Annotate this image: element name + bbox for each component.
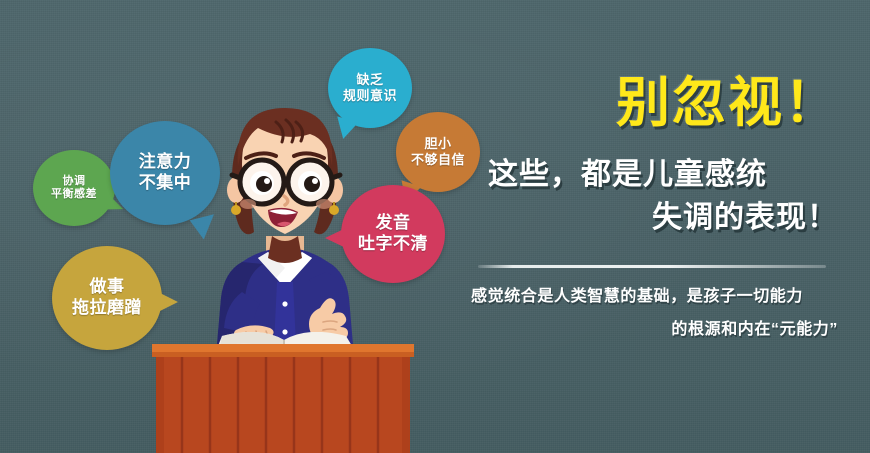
bubble-line-1: 缺乏 bbox=[356, 72, 383, 88]
bubble-tail bbox=[154, 290, 178, 314]
headline-block: 别忽视！ 这些，都是儿童感统 失调的表现！ 感觉统合是人类智慧的基础，是孩子一切… bbox=[452, 76, 852, 356]
bubble-line-1: 做事 bbox=[90, 277, 125, 298]
promo-banner: 协调 平衡感差 注意力 不集中 做事 拖拉磨蹭 缺乏 规则意识 胆小 不够自信 … bbox=[0, 0, 870, 453]
bubble-coordination[interactable]: 协调 平衡感差 bbox=[33, 150, 115, 226]
bubble-attention[interactable]: 注意力 不集中 bbox=[110, 121, 220, 225]
podium bbox=[152, 332, 414, 453]
bubble-pronunciation[interactable]: 发音 吐字不清 bbox=[341, 185, 445, 283]
body-line-2: 的根源和内在“元能力” bbox=[671, 322, 838, 338]
bubble-line-1: 协调 bbox=[63, 175, 86, 188]
bubble-line-2: 不集中 bbox=[139, 173, 192, 194]
bubble-line-1: 胆小 bbox=[424, 136, 451, 152]
bubble-line-2: 吐字不清 bbox=[358, 234, 428, 255]
headline-sub-line-1: 这些，都是儿童感统 bbox=[488, 160, 767, 190]
headline-main: 别忽视！ bbox=[616, 76, 840, 130]
bubble-procrastination[interactable]: 做事 拖拉磨蹭 bbox=[52, 246, 162, 350]
bubble-tail bbox=[325, 227, 348, 249]
bubble-line-2: 拖拉磨蹭 bbox=[72, 298, 142, 319]
bubble-line-1: 注意力 bbox=[139, 152, 192, 173]
body-line-1: 感觉统合是人类智慧的基础，是孩子一切能力 bbox=[471, 289, 803, 305]
bubble-line-2: 规则意识 bbox=[343, 88, 397, 104]
headline-sub-line-2: 失调的表现！ bbox=[652, 203, 838, 233]
divider bbox=[478, 265, 826, 268]
bubble-line-1: 发音 bbox=[376, 213, 411, 234]
bubble-line-2: 平衡感差 bbox=[51, 188, 97, 201]
bubble-rule-awareness[interactable]: 缺乏 规则意识 bbox=[328, 48, 412, 128]
